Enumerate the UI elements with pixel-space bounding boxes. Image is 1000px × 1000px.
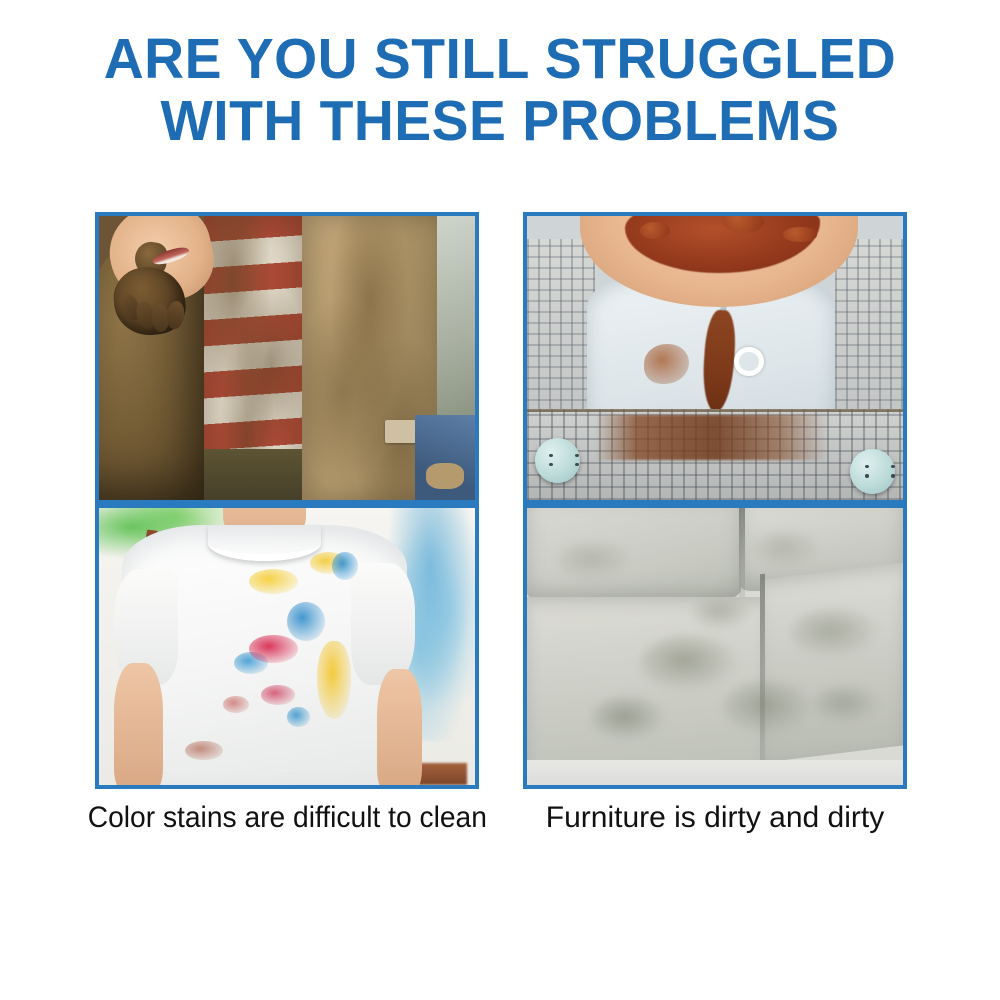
food-sauce-blob — [640, 222, 670, 239]
sofa-dirt-stain — [692, 597, 752, 630]
problem-card-paint: Color stains are difficult to clean — [95, 504, 479, 894]
sofa-dirt-stain — [790, 608, 880, 658]
problem-image-frame-food — [523, 212, 907, 504]
sofa-dirt-stain — [591, 696, 666, 740]
problem-card-furniture: Furniture is dirty and dirty — [523, 504, 907, 894]
food-sauce-blob — [783, 227, 817, 241]
problem-image-frame-furniture — [523, 504, 907, 789]
paint-splatter-blue — [287, 707, 310, 726]
sofa-seat-seam — [760, 574, 765, 774]
sofa-dirt-stain — [557, 541, 632, 580]
mud-boot — [426, 463, 464, 489]
paint-arm-right — [377, 669, 422, 785]
page-title: ARE YOU STILL STRUGGLED WITH THESE PROBL… — [15, 28, 985, 152]
paint-splatter-yellow — [317, 641, 351, 719]
sofa-dirt-stain — [753, 530, 821, 569]
sofa-dirt-stain — [813, 685, 881, 724]
mud-jacket-tag — [385, 420, 419, 443]
headline-line-2: WITH THESE PROBLEMS — [15, 90, 985, 152]
headline-line-1: ARE YOU STILL STRUGGLED — [15, 28, 985, 90]
problem-caption-furniture: Furniture is dirty and dirty — [503, 800, 927, 836]
sofa-floor — [527, 760, 903, 785]
mud-pants — [204, 449, 302, 500]
problem-card-food: Food stains clothes — [523, 212, 907, 504]
paint-photo — [99, 508, 475, 785]
sofa-dirt-stain — [640, 635, 738, 690]
paint-splatter-blue — [287, 602, 325, 641]
sofa-dirt-stain — [723, 680, 813, 735]
problem-caption-paint: Color stains are difficult to clean — [88, 800, 487, 836]
food-shirt-snap — [734, 347, 764, 377]
paint-sleeve-right — [351, 563, 415, 685]
problem-card-mud: Playing with mud all over — [95, 212, 479, 504]
sofa-backrest-seam — [739, 508, 744, 597]
paint-tshirt-collar — [208, 525, 321, 561]
paint-splatter-red — [261, 685, 295, 704]
food-overall-button-left — [535, 438, 580, 483]
problem-poster: ARE YOU STILL STRUGGLED WITH THESE PROBL… — [0, 0, 1000, 1000]
food-sauce-stain — [644, 344, 689, 384]
paint-arm-left — [114, 663, 163, 785]
problem-image-frame-mud — [95, 212, 479, 504]
paint-splatter-red — [185, 741, 223, 760]
sofa-photo — [527, 508, 903, 785]
food-photo — [527, 216, 903, 500]
mud-photo — [99, 216, 475, 500]
food-band-stain — [595, 415, 828, 460]
paint-splatter-yellow — [249, 569, 298, 594]
problem-image-frame-paint — [95, 504, 479, 789]
problem-grid: Playing with mud all over — [95, 212, 907, 894]
